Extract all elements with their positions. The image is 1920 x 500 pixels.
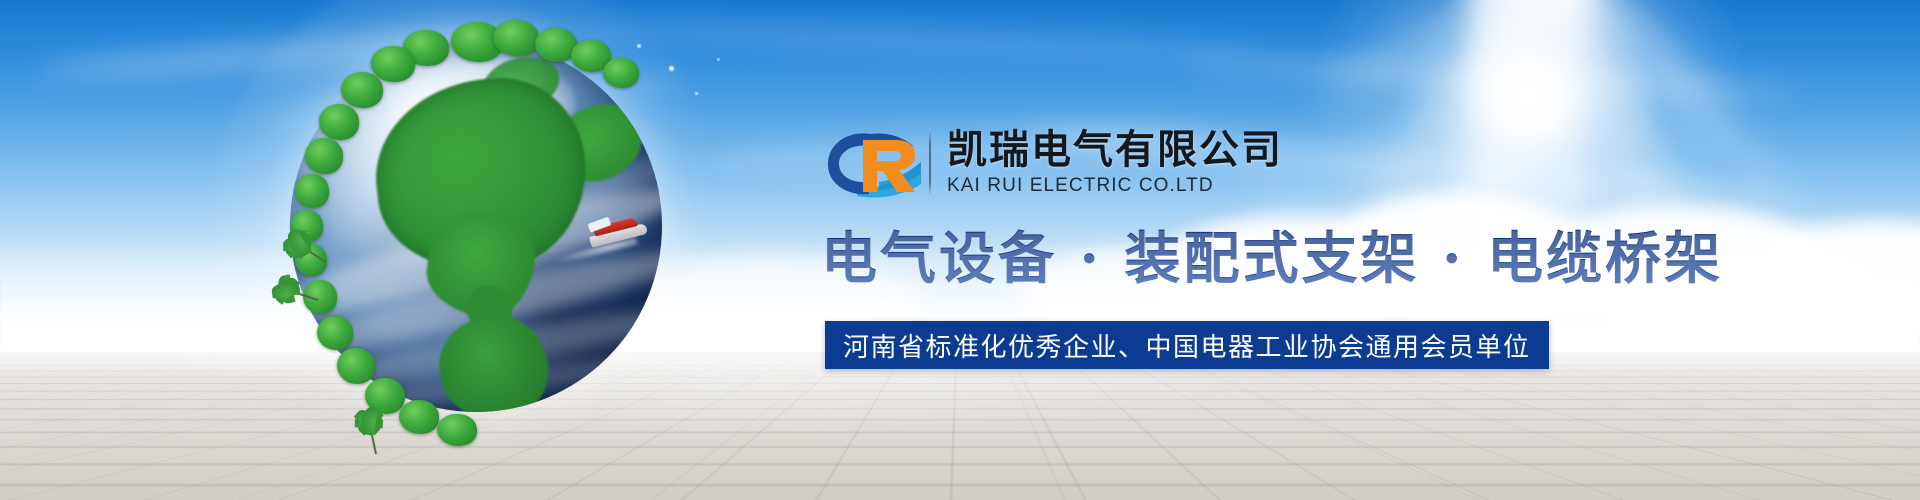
- logo-divider: [929, 129, 931, 197]
- cr-monogram-logo: [827, 126, 923, 200]
- status-badge: 河南省标准化优秀企业、中国电器工业协会通用会员单位: [825, 321, 1549, 369]
- company-name-en: KAI RUI ELECTRIC CO.LTD: [947, 175, 1283, 197]
- hero-banner: 凯瑞电气有限公司 KAI RUI ELECTRIC CO.LTD 电气设备 · …: [0, 0, 1920, 500]
- page-title: 电气设备 · 装配式支架 · 电缆桥架: [821, 228, 1723, 292]
- brand-lockup: 凯瑞电气有限公司 KAI RUI ELECTRIC CO.LTD: [827, 122, 1283, 204]
- company-name-cn: 凯瑞电气有限公司: [947, 129, 1283, 171]
- award-badge-label: 河南省标准化优秀企业、中国电器工业协会通用会员单位: [843, 327, 1531, 364]
